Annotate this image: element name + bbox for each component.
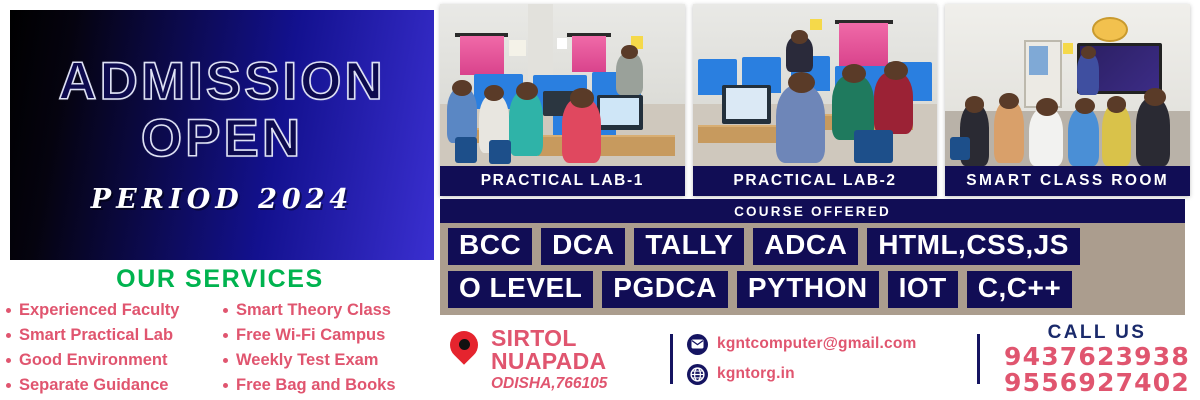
- hero-title-admission: ADMISSION: [58, 55, 385, 109]
- service-label: Free Bag and Books: [236, 373, 396, 398]
- course-chip[interactable]: PGDCA: [602, 271, 728, 308]
- courses-section: COURSE OFFERED BCC DCA TALLY ADCA HTML,C…: [440, 199, 1185, 315]
- bullet-icon: [223, 383, 228, 388]
- divider: [977, 334, 980, 384]
- course-chip[interactable]: BCC: [448, 228, 532, 265]
- bullet-icon: [6, 358, 11, 363]
- service-item: Good Environment: [6, 348, 217, 373]
- address-line-2: NUAPADA: [491, 350, 607, 373]
- courses-row-2: O LEVEL PGDCA PYTHON IOT C,C++: [440, 265, 1185, 308]
- service-item: Smart Practical Lab: [6, 323, 217, 348]
- courses-row-1: BCC DCA TALLY ADCA HTML,CSS,JS: [440, 223, 1185, 265]
- service-label: Experienced Faculty: [19, 298, 179, 323]
- course-chip[interactable]: ADCA: [753, 228, 858, 265]
- service-label: Free Wi-Fi Campus: [236, 323, 385, 348]
- service-item: Separate Guidance: [6, 373, 217, 398]
- service-item: Free Bag and Books: [223, 373, 434, 398]
- bullet-icon: [223, 358, 228, 363]
- hero-period: PERIOD 2024: [91, 184, 353, 215]
- service-label: Weekly Test Exam: [236, 348, 378, 373]
- service-item: Weekly Test Exam: [223, 348, 434, 373]
- hero-title-open: OPEN: [141, 111, 303, 167]
- divider: [670, 334, 673, 384]
- photo-image-practical-lab-2: [693, 4, 938, 166]
- course-chip[interactable]: DCA: [541, 228, 625, 265]
- web-contact-block: kgntcomputer@gmail.com kgntorg.in: [687, 334, 973, 385]
- website-row[interactable]: kgntorg.in: [687, 364, 973, 385]
- phone-number-2[interactable]: 9556927402: [1004, 370, 1190, 397]
- call-us-label: CALL US: [1048, 322, 1147, 344]
- bullet-icon: [223, 333, 228, 338]
- service-item: Free Wi-Fi Campus: [223, 323, 434, 348]
- service-item: Experienced Faculty: [6, 298, 217, 323]
- address-line-3: ODISHA,766105: [491, 376, 607, 392]
- bullet-icon: [223, 308, 228, 313]
- course-chip[interactable]: C,C++: [967, 271, 1072, 308]
- photo-gallery: PRACTICAL LAB-1: [440, 4, 1190, 196]
- services-title: OUR SERVICES: [0, 265, 440, 294]
- course-chip[interactable]: PYTHON: [737, 271, 879, 308]
- website-text: kgntorg.in: [717, 365, 795, 383]
- address-line-1: SIRTOL: [491, 327, 607, 350]
- service-label: Smart Practical Lab: [19, 323, 173, 348]
- service-label: Separate Guidance: [19, 373, 168, 398]
- phone-number-1[interactable]: 9437623938: [1004, 344, 1190, 371]
- service-item: Smart Theory Class: [223, 298, 434, 323]
- course-chip[interactable]: O LEVEL: [448, 271, 593, 308]
- services-section: OUR SERVICES Experienced Faculty Smart P…: [0, 262, 440, 400]
- contact-bar: SIRTOL NUAPADA ODISHA,766105 kgntcompute…: [440, 318, 1200, 400]
- photo-card-lab2: PRACTICAL LAB-2: [693, 4, 938, 196]
- call-block: CALL US 9437623938 9556927402: [994, 322, 1200, 397]
- photo-caption: PRACTICAL LAB-1: [440, 166, 685, 196]
- envelope-icon: [687, 334, 708, 355]
- photo-caption: PRACTICAL LAB-2: [693, 166, 938, 196]
- admission-banner: ADMISSION OPEN PERIOD 2024 OUR SERVICES …: [0, 0, 1200, 400]
- photo-image-practical-lab-1: [440, 4, 685, 166]
- course-chip[interactable]: IOT: [888, 271, 958, 308]
- globe-icon: [687, 364, 708, 385]
- courses-heading: COURSE OFFERED: [440, 199, 1185, 223]
- email-text: kgntcomputer@gmail.com: [717, 335, 917, 353]
- services-column-right: Smart Theory Class Free Wi-Fi Campus Wee…: [217, 298, 434, 398]
- address-block: SIRTOL NUAPADA ODISHA,766105: [440, 327, 666, 392]
- hero-panel: ADMISSION OPEN PERIOD 2024: [10, 10, 434, 260]
- bullet-icon: [6, 308, 11, 313]
- service-label: Smart Theory Class: [236, 298, 391, 323]
- photo-card-smart-class: SMART CLASS ROOM: [945, 4, 1190, 196]
- service-label: Good Environment: [19, 348, 168, 373]
- location-pin-icon: [448, 331, 482, 375]
- bullet-icon: [6, 333, 11, 338]
- email-row[interactable]: kgntcomputer@gmail.com: [687, 334, 973, 355]
- bullet-icon: [6, 383, 11, 388]
- services-column-left: Experienced Faculty Smart Practical Lab …: [6, 298, 217, 398]
- photo-caption: SMART CLASS ROOM: [945, 166, 1190, 196]
- photo-card-lab1: PRACTICAL LAB-1: [440, 4, 685, 196]
- course-chip[interactable]: HTML,CSS,JS: [867, 228, 1080, 265]
- photo-image-smart-class-room: [945, 4, 1190, 166]
- course-chip[interactable]: TALLY: [634, 228, 744, 265]
